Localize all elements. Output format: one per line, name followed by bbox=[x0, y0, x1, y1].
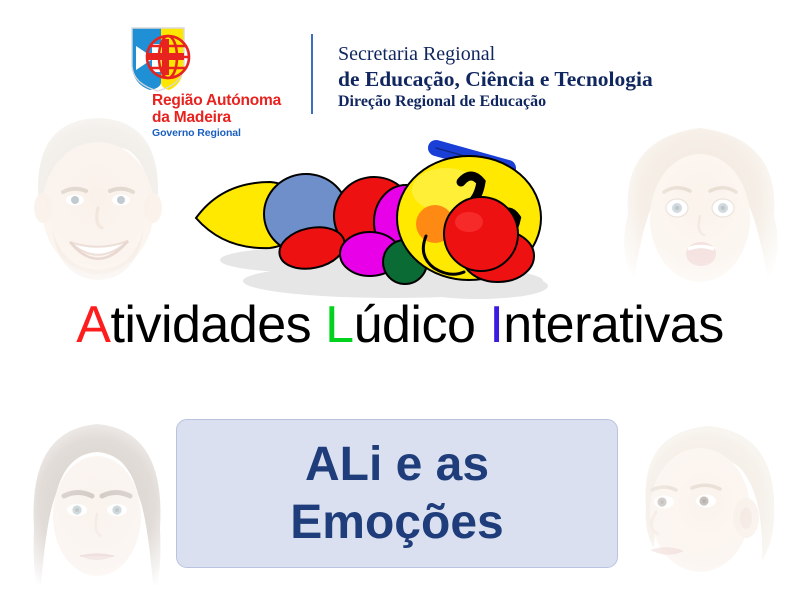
subtitle-line-2: Emoções bbox=[290, 494, 503, 552]
subtitle-line-1: ALi e as bbox=[305, 436, 489, 494]
page-title: Atividades Lúdico Interativas bbox=[0, 296, 800, 354]
title-word-1: tividades bbox=[110, 296, 311, 354]
title-word-2: údico bbox=[354, 296, 476, 354]
title-cap-l: L bbox=[325, 296, 353, 354]
logo-line-1: Região Autónoma bbox=[152, 93, 281, 110]
department-line-3: Direção Regional de Educação bbox=[338, 92, 653, 112]
title-space-1 bbox=[311, 296, 325, 354]
ali-caterpillar-mascot bbox=[178, 138, 568, 303]
title-cap-a: A bbox=[76, 296, 110, 354]
madeira-government-logo: Região Autónoma da Madeira Governo Regio… bbox=[118, 26, 293, 140]
department-line-1: Secretaria Regional bbox=[338, 42, 653, 66]
title-space-2 bbox=[475, 296, 489, 354]
photo-child-profile bbox=[622, 406, 797, 600]
department-name-block: Secretaria Regional de Educação, Ciência… bbox=[338, 42, 653, 112]
institutional-header: Região Autónoma da Madeira Governo Regio… bbox=[118, 26, 653, 140]
department-line-2: de Educação, Ciência e Tecnologia bbox=[338, 66, 653, 92]
slide-canvas: Região Autónoma da Madeira Governo Regio… bbox=[0, 0, 800, 600]
title-word-3: nterativas bbox=[503, 296, 723, 354]
title-cap-i: I bbox=[489, 296, 503, 354]
subtitle-card: ALi e as Emoções bbox=[176, 419, 618, 568]
madeira-crest-icon bbox=[124, 26, 198, 97]
logo-line-2: da Madeira bbox=[152, 110, 281, 127]
photo-neutral-woman bbox=[12, 408, 182, 600]
header-divider bbox=[311, 34, 313, 114]
